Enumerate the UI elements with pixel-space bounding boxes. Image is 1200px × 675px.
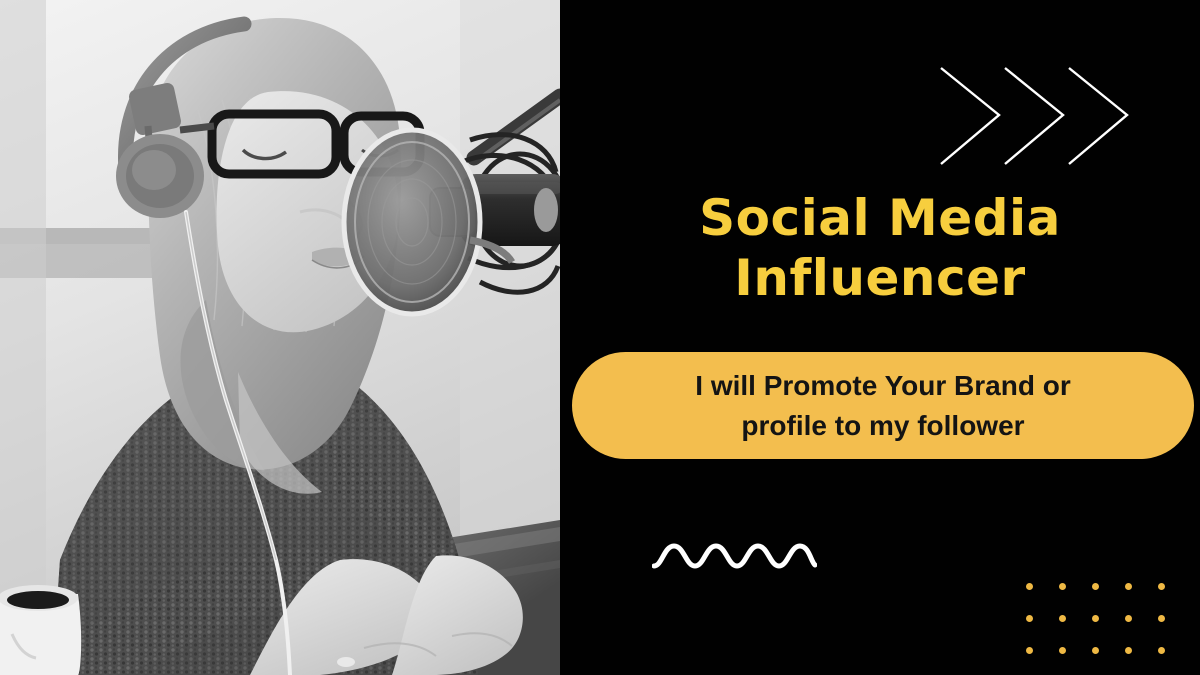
grid-dot xyxy=(1158,583,1165,590)
grid-dot xyxy=(1026,615,1033,622)
promo-pill[interactable]: I will Promote Your Brand or profile to … xyxy=(572,352,1194,459)
coffee-mug xyxy=(0,585,81,675)
grid-dot xyxy=(1125,647,1132,654)
grid-dot xyxy=(1158,647,1165,654)
wavy-line-icon xyxy=(652,536,817,574)
content-panel: Social Media Influencer I will Promote Y… xyxy=(560,0,1200,675)
grid-dot xyxy=(1092,647,1099,654)
grid-dot xyxy=(1158,615,1165,622)
dot-grid xyxy=(1026,583,1172,661)
headline-line-2: Influencer xyxy=(560,248,1200,308)
headband-slider xyxy=(128,82,183,137)
ring xyxy=(337,657,355,667)
grid-dot xyxy=(1026,647,1033,654)
grid-dot xyxy=(1059,615,1066,622)
social-media-influencer-banner: Social Media Influencer I will Promote Y… xyxy=(0,0,1200,675)
triple-chevron-right-icon xyxy=(935,62,1135,172)
grid-dot xyxy=(1026,583,1033,590)
promo-text: I will Promote Your Brand or profile to … xyxy=(603,366,1163,446)
grid-dot xyxy=(1092,583,1099,590)
page-title: Social Media Influencer xyxy=(560,188,1200,308)
coffee-surface xyxy=(7,591,69,609)
promo-line-2: profile to my follower xyxy=(603,406,1163,446)
promo-line-1: I will Promote Your Brand or xyxy=(603,366,1163,406)
grid-dot xyxy=(1059,583,1066,590)
grid-dot xyxy=(1125,583,1132,590)
influencer-photo xyxy=(0,0,560,675)
grid-dot xyxy=(1125,615,1132,622)
headline-line-1: Social Media xyxy=(560,188,1200,248)
grid-dot xyxy=(1092,615,1099,622)
photo-illustration xyxy=(0,0,560,675)
grid-dot xyxy=(1059,647,1066,654)
